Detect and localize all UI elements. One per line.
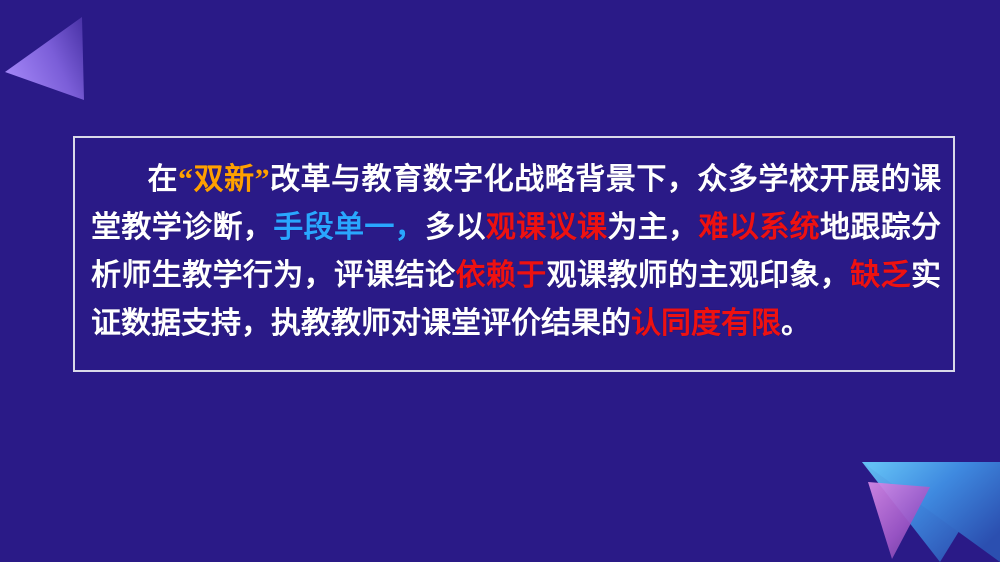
text-run-white: 在 (147, 163, 178, 196)
body-paragraph: 在“双新”改革与教育数字化战略背景下，众多学校开展的课堂教学诊断，手段单一，多以… (91, 156, 941, 348)
triangle-top-left-icon (0, 0, 120, 120)
text-run-red: 依赖于 (455, 259, 546, 292)
text-run-red: 难以系统 (698, 211, 819, 244)
text-run-red: 观课议课 (486, 211, 607, 244)
text-run-white: 多以 (425, 211, 486, 244)
text-run-white: 观课教师的主观印象， (547, 259, 851, 292)
text-run-red: 缺乏 (850, 259, 911, 292)
triangle-bottom-right-group-icon (640, 447, 1000, 562)
text-run-gold: “双新” (178, 163, 270, 196)
text-run-cyan: 手段单一， (273, 211, 425, 244)
text-run-white: 为主， (607, 211, 698, 244)
text-run-red: 认同度有限 (631, 307, 781, 340)
slide-canvas: 在“双新”改革与教育数字化战略背景下，众多学校开展的课堂教学诊断，手段单一，多以… (0, 0, 1000, 562)
text-frame: 在“双新”改革与教育数字化战略背景下，众多学校开展的课堂教学诊断，手段单一，多以… (73, 136, 955, 372)
text-run-white: 。 (781, 307, 811, 340)
